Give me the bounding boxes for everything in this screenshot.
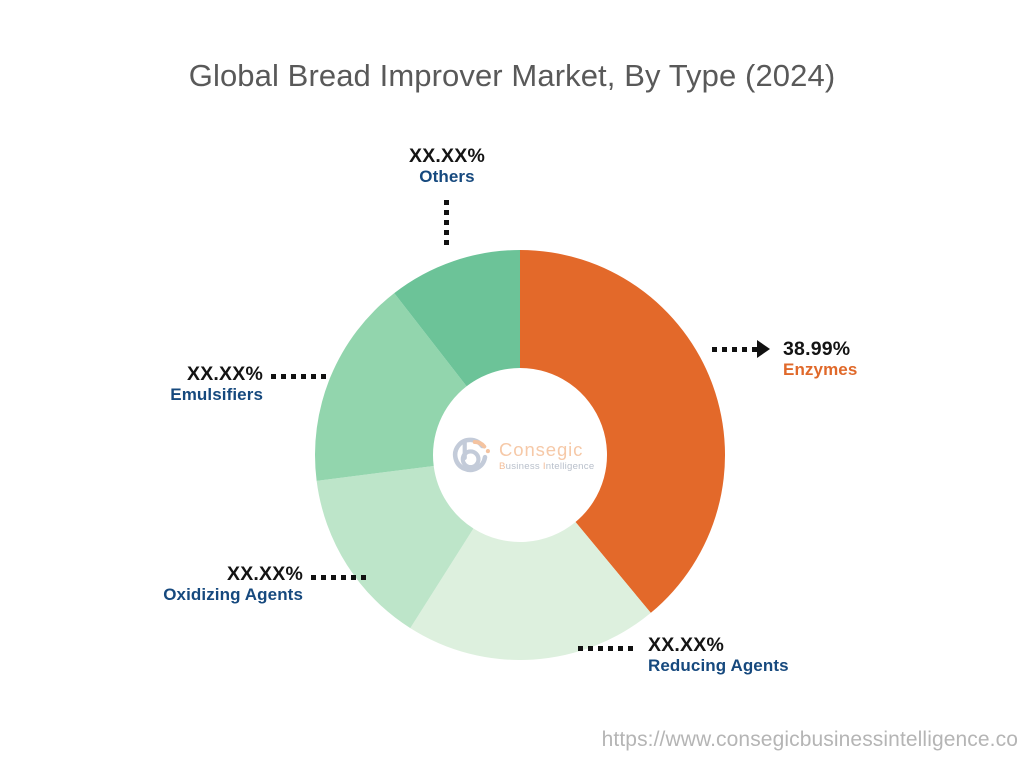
leader-arrow-enzymes (757, 340, 770, 358)
callout-oxidizing-agents-value: XX.XX% (101, 563, 303, 585)
callout-enzymes-label: Enzymes (783, 360, 857, 380)
callout-enzymes-value: 38.99% (783, 338, 857, 360)
callout-emulsifiers: XX.XX% Emulsifiers (61, 363, 263, 406)
chart-root: Global Bread Improver Market, By Type (2… (0, 0, 1024, 768)
leader-line-reducing-agents (578, 646, 634, 651)
donut-chart (315, 250, 725, 660)
leader-line-emulsifiers (271, 374, 331, 379)
callout-reducing-agents-value: XX.XX% (648, 634, 789, 656)
source-url: https://www.consegicbusinessintelligence… (602, 728, 1018, 752)
callout-oxidizing-agents: XX.XX% Oxidizing Agents (101, 563, 303, 606)
callout-oxidizing-agents-label: Oxidizing Agents (101, 585, 303, 605)
callout-others-label: Others (373, 167, 521, 187)
callout-emulsifiers-label: Emulsifiers (61, 385, 263, 405)
callout-reducing-agents-label: Reducing Agents (648, 656, 789, 676)
donut-svg (315, 250, 725, 660)
leader-line-oxidizing-agents (311, 575, 371, 580)
callout-others-value: XX.XX% (373, 145, 521, 167)
callout-reducing-agents: XX.XX% Reducing Agents (648, 634, 789, 677)
leader-line-others (444, 200, 449, 250)
callout-others: XX.XX% Others (373, 145, 521, 188)
donut-slice-group (315, 250, 725, 660)
callout-emulsifiers-value: XX.XX% (61, 363, 263, 385)
callout-enzymes: 38.99% Enzymes (783, 338, 857, 381)
page-title: Global Bread Improver Market, By Type (2… (0, 58, 1024, 94)
